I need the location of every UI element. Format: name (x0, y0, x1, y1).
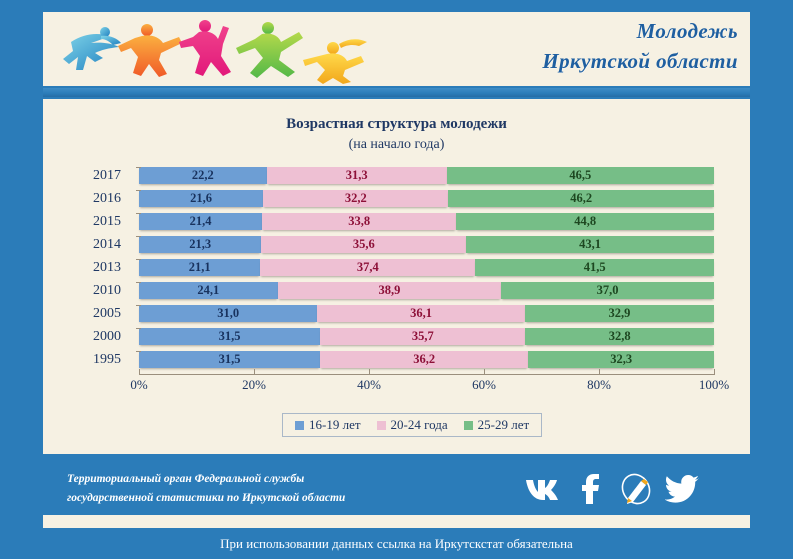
chart-subtitle: (на начало года) (43, 137, 750, 153)
content-panel: Возрастная структура молодежи (на начало… (43, 99, 750, 454)
stacked-bar: 21,632,246,2 (139, 190, 714, 207)
bar-segment: 46,5 (447, 167, 714, 184)
bottom-note-text: При использовании данных ссылка на Иркут… (220, 536, 573, 552)
bar-segment: 21,6 (139, 190, 263, 207)
legend-swatch-green (464, 421, 473, 430)
bar-segment: 41,5 (475, 259, 714, 276)
bar-segment: 44,8 (456, 213, 714, 230)
bar-segment: 36,1 (317, 305, 525, 322)
y-axis-label: 2013 (43, 257, 129, 279)
chart-row: 201521,433,844,8 (43, 211, 750, 233)
y-axis-tick (136, 328, 141, 329)
y-axis-label: 1995 (43, 349, 129, 371)
chart-row: 199531,536,232,3 (43, 349, 750, 371)
y-axis-label: 2000 (43, 326, 129, 348)
footer-band: Территориальный орган Федеральной службы… (43, 462, 750, 515)
bar-value-label: 33,8 (348, 214, 370, 229)
legend-swatch-pink (377, 421, 386, 430)
y-axis-tick (136, 351, 141, 352)
organization-name: Территориальный орган Федеральной службы… (67, 470, 345, 508)
y-axis-tick (136, 236, 141, 237)
chart-row: 201321,137,441,5 (43, 257, 750, 279)
legend-label-16-19: 16-19 лет (309, 417, 361, 433)
twitter-icon[interactable] (659, 468, 705, 510)
stacked-bar: 31,536,232,3 (139, 351, 714, 368)
bar-segment: 35,6 (261, 236, 466, 253)
chart-row: 201421,335,643,1 (43, 234, 750, 256)
bar-value-label: 35,7 (412, 329, 434, 344)
y-axis-tick (136, 305, 141, 306)
bar-segment: 35,7 (320, 328, 525, 345)
bar-value-label: 31,5 (219, 329, 241, 344)
bar-value-label: 43,1 (579, 237, 601, 252)
bar-segment: 31,5 (139, 328, 320, 345)
social-links (521, 466, 750, 511)
x-axis-tick (484, 369, 485, 375)
x-axis-tick-label: 40% (357, 377, 381, 393)
bar-value-label: 32,8 (609, 329, 631, 344)
bar-value-label: 31,0 (217, 306, 239, 321)
x-axis-tick (369, 369, 370, 375)
bar-segment: 31,5 (139, 351, 320, 368)
y-axis-tick (136, 282, 141, 283)
bar-segment: 31,0 (139, 305, 317, 322)
chart-rows: 201722,231,346,5201621,632,246,2201521,4… (43, 165, 750, 372)
bar-value-label: 46,2 (570, 191, 592, 206)
bar-segment: 32,8 (525, 328, 714, 345)
chart-row: 201621,632,246,2 (43, 188, 750, 210)
bar-segment: 32,3 (528, 351, 714, 368)
bar-segment: 37,4 (260, 259, 475, 276)
bar-value-label: 41,5 (584, 260, 606, 275)
dancing-youth-silhouettes-icon (43, 12, 393, 86)
stacked-bar: 24,138,937,0 (139, 282, 714, 299)
chart-legend: 16-19 лет 20-24 года 25-29 лет (282, 413, 542, 437)
header-divider (43, 88, 750, 97)
y-axis-label: 2017 (43, 165, 129, 187)
bar-value-label: 21,4 (190, 214, 212, 229)
bar-segment: 21,4 (139, 213, 262, 230)
stacked-bar: 21,433,844,8 (139, 213, 714, 230)
stacked-bar: 22,231,346,5 (139, 167, 714, 184)
y-axis-tick (136, 259, 141, 260)
x-axis-tick-label: 100% (699, 377, 729, 393)
infographic-page: Молодежь Иркутской области Возрастная ст… (0, 0, 793, 559)
x-axis-line (139, 374, 714, 375)
legend-item-25-29: 25-29 лет (464, 417, 530, 433)
x-axis-tick (139, 369, 140, 375)
y-axis-label: 2005 (43, 303, 129, 325)
y-axis-tick (136, 167, 141, 168)
bar-segment: 43,1 (466, 236, 714, 253)
legend-swatch-blue (295, 421, 304, 430)
footer-gap (43, 515, 750, 528)
x-axis-tick-label: 60% (472, 377, 496, 393)
chart-row: 200531,036,132,9 (43, 303, 750, 325)
legend-label-20-24: 20-24 года (391, 417, 448, 433)
y-axis-label: 2014 (43, 234, 129, 256)
header-band: Молодежь Иркутской области (43, 12, 750, 86)
bar-value-label: 35,6 (353, 237, 375, 252)
chart-row: 201024,138,937,0 (43, 280, 750, 302)
y-axis-label: 2015 (43, 211, 129, 233)
bar-value-label: 37,0 (597, 283, 619, 298)
page-title-line-1: Молодежь (542, 16, 738, 46)
facebook-icon[interactable] (567, 468, 613, 510)
livejournal-icon[interactable] (613, 468, 659, 510)
stacked-bar: 21,335,643,1 (139, 236, 714, 253)
stacked-bar: 31,036,132,9 (139, 305, 714, 322)
chart-row: 200031,535,732,8 (43, 326, 750, 348)
legend-label-25-29: 25-29 лет (478, 417, 530, 433)
x-axis-tick (254, 369, 255, 375)
bar-segment: 32,9 (525, 305, 714, 322)
y-axis-tick (136, 190, 141, 191)
organization-line-1: Территориальный орган Федеральной службы (67, 470, 345, 489)
bar-segment: 22,2 (139, 167, 267, 184)
bar-value-label: 22,2 (192, 168, 214, 183)
legend-item-20-24: 20-24 года (377, 417, 448, 433)
x-axis-tick (714, 369, 715, 375)
bar-value-label: 32,9 (608, 306, 630, 321)
stacked-bar-chart: 201722,231,346,5201621,632,246,2201521,4… (43, 165, 750, 383)
y-axis-label: 2010 (43, 280, 129, 302)
bar-segment: 21,1 (139, 259, 260, 276)
bar-segment: 24,1 (139, 282, 278, 299)
bar-value-label: 31,3 (346, 168, 368, 183)
page-title-line-2: Иркутской области (542, 46, 738, 76)
bar-segment: 21,3 (139, 236, 261, 253)
bar-value-label: 46,5 (569, 168, 591, 183)
vk-icon[interactable] (521, 468, 567, 510)
bar-segment: 32,2 (263, 190, 448, 207)
bar-value-label: 21,1 (189, 260, 211, 275)
bar-value-label: 36,2 (413, 352, 435, 367)
x-axis-tick-label: 20% (242, 377, 266, 393)
bar-segment: 37,0 (501, 282, 714, 299)
bar-value-label: 24,1 (197, 283, 219, 298)
bar-segment: 46,2 (448, 190, 714, 207)
organization-line-2: государственной статистики по Иркутской … (67, 489, 345, 508)
bar-segment: 33,8 (262, 213, 456, 230)
bar-value-label: 36,1 (410, 306, 432, 321)
bar-segment: 36,2 (320, 351, 528, 368)
bar-value-label: 37,4 (357, 260, 379, 275)
page-title: Молодежь Иркутской области (542, 16, 738, 76)
bar-value-label: 21,6 (190, 191, 212, 206)
x-axis-tick (599, 369, 600, 375)
stacked-bar: 21,137,441,5 (139, 259, 714, 276)
bar-value-label: 32,3 (610, 352, 632, 367)
bar-segment: 31,3 (267, 167, 447, 184)
y-axis-label: 2016 (43, 188, 129, 210)
bar-segment: 38,9 (278, 282, 502, 299)
bar-value-label: 21,3 (189, 237, 211, 252)
x-axis-tick-label: 0% (130, 377, 147, 393)
bottom-note-bar: При использовании данных ссылка на Иркут… (0, 528, 793, 559)
legend-item-16-19: 16-19 лет (295, 417, 361, 433)
bar-value-label: 31,5 (219, 352, 241, 367)
y-axis-tick (136, 213, 141, 214)
stacked-bar: 31,535,732,8 (139, 328, 714, 345)
bar-value-label: 44,8 (574, 214, 596, 229)
bar-value-label: 32,2 (345, 191, 367, 206)
chart-row: 201722,231,346,5 (43, 165, 750, 187)
x-axis-tick-label: 80% (587, 377, 611, 393)
chart-title: Возрастная структура молодежи (43, 116, 750, 133)
bar-value-label: 38,9 (378, 283, 400, 298)
